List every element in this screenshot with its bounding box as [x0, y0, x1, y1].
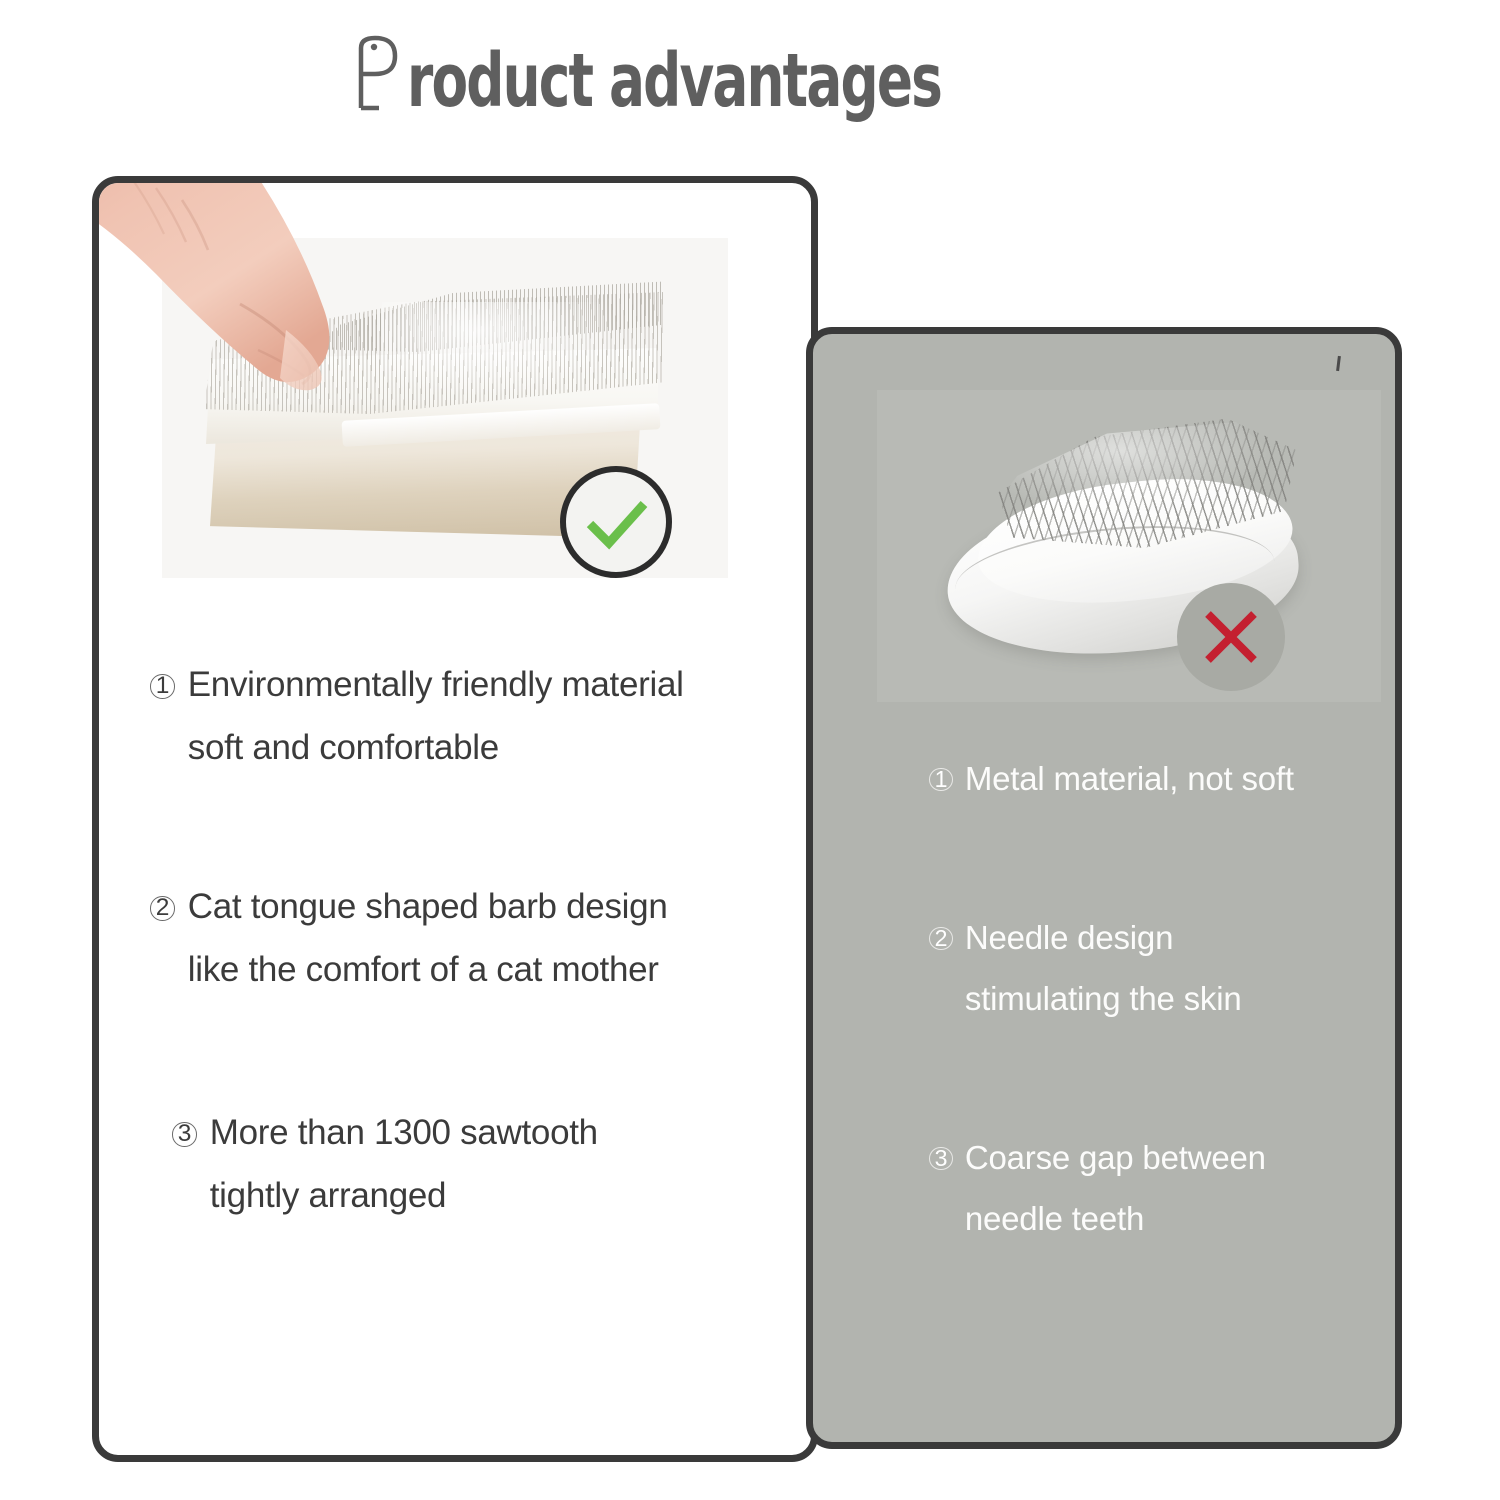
disadvantage-list: 1Metal material, not soft 2Needle design…	[917, 748, 1387, 1249]
item-number: 3	[159, 1101, 210, 1164]
brush-highlight	[382, 302, 622, 398]
item-text: stimulating the skin	[917, 968, 1387, 1029]
item-text: Needle design	[965, 919, 1173, 956]
finger-illustration	[92, 176, 390, 444]
list-item: 1Environmentally friendly material soft …	[137, 653, 797, 779]
item-number: 1	[917, 748, 965, 809]
item-text: soft and comfortable	[137, 716, 797, 779]
item-text: tightly arranged	[159, 1164, 797, 1227]
advantage-card-bad: 1Metal material, not soft 2Needle design…	[806, 327, 1402, 1449]
check-badge	[560, 466, 672, 578]
list-item: 3Coarse gap between needle teeth	[917, 1127, 1387, 1249]
item-number: 1	[137, 653, 188, 716]
advantage-card-good: 1Environmentally friendly material soft …	[92, 176, 818, 1462]
item-text: Environmentally friendly material	[188, 665, 684, 704]
list-item: 3More than 1300 sawtooth tightly arrange…	[137, 1101, 797, 1227]
item-text: Coarse gap between	[965, 1139, 1266, 1176]
advantage-list-good: 1Environmentally friendly material soft …	[137, 653, 797, 1227]
item-number: 2	[917, 907, 965, 968]
tick-mark-artifact	[1336, 356, 1341, 371]
item-text: like the comfort of a cat mother	[137, 938, 797, 1001]
cross-badge	[1177, 583, 1285, 691]
item-text: Metal material, not soft	[965, 760, 1294, 797]
item-text: needle teeth	[917, 1188, 1387, 1249]
metal-brush-photo	[877, 390, 1381, 702]
page-title-text: roduct advantages	[407, 42, 941, 120]
item-text: More than 1300 sawtooth	[210, 1113, 598, 1152]
page-title: roduct advantages	[0, 34, 1500, 120]
item-number: 3	[917, 1127, 965, 1188]
list-item: 2Cat tongue shaped barb design like the …	[137, 875, 797, 1001]
silicone-brush-photo	[162, 238, 728, 578]
decorative-p-icon	[351, 34, 405, 112]
list-item: 1Metal material, not soft	[917, 748, 1387, 809]
item-number: 2	[137, 875, 188, 938]
item-text: Cat tongue shaped barb design	[188, 887, 668, 926]
list-item: 2Needle design stimulating the skin	[917, 907, 1387, 1029]
